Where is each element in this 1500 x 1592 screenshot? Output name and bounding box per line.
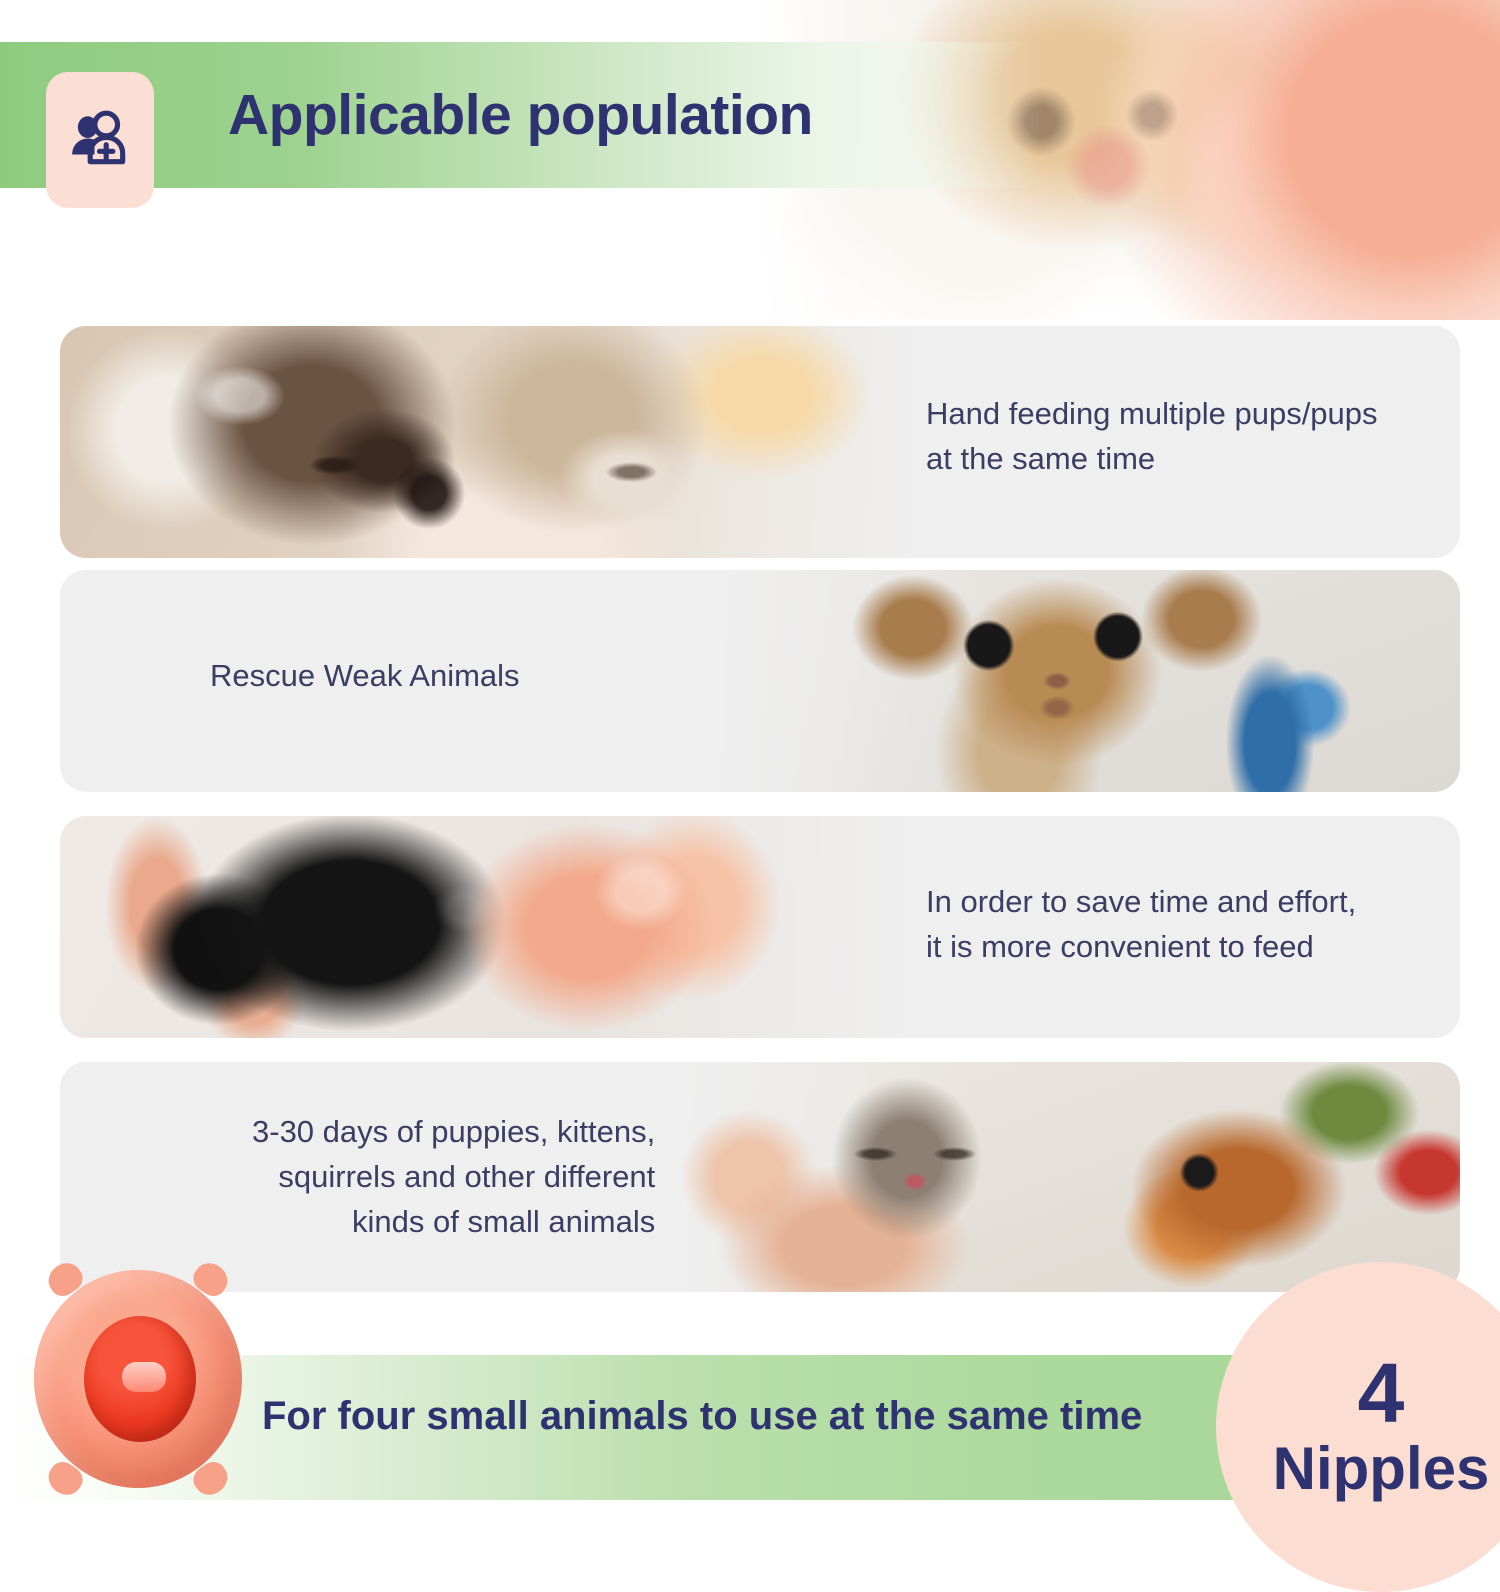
badge-label: Nipples [1273, 1437, 1490, 1500]
bottom-banner-text: For four small animals to use at the sam… [262, 1394, 1142, 1439]
feature-card: In order to save time and effort, it is … [60, 816, 1460, 1038]
card-text: In order to save time and effort, it is … [926, 880, 1356, 970]
card-photo-kitten-squirrel [670, 1062, 1460, 1292]
page-title: Applicable population [228, 82, 813, 148]
card-photo-husky-pups [60, 326, 960, 558]
card-text: Hand feeding multiple pups/pups at the s… [926, 392, 1378, 482]
card-text: Rescue Weak Animals [210, 654, 520, 699]
feature-card: Hand feeding multiple pups/pups at the s… [60, 326, 1460, 558]
nipple-count-badge: 4 Nipples [1216, 1262, 1500, 1592]
card-text: 3-30 days of puppies, kittens, squirrels… [252, 1110, 655, 1245]
nipple-slit [122, 1362, 166, 1392]
badge-count: 4 [1358, 1354, 1405, 1434]
add-people-icon [46, 72, 154, 208]
card-photo-tabby-kitten [700, 570, 1460, 792]
infographic-page: Applicable population Hand feeding multi… [0, 0, 1500, 1500]
product-photo-nipple [12, 1258, 264, 1500]
card-photo-black-puppy [60, 816, 940, 1038]
feature-card: 3-30 days of puppies, kittens, squirrels… [60, 1062, 1460, 1292]
feature-card: Rescue Weak Animals [60, 570, 1460, 792]
